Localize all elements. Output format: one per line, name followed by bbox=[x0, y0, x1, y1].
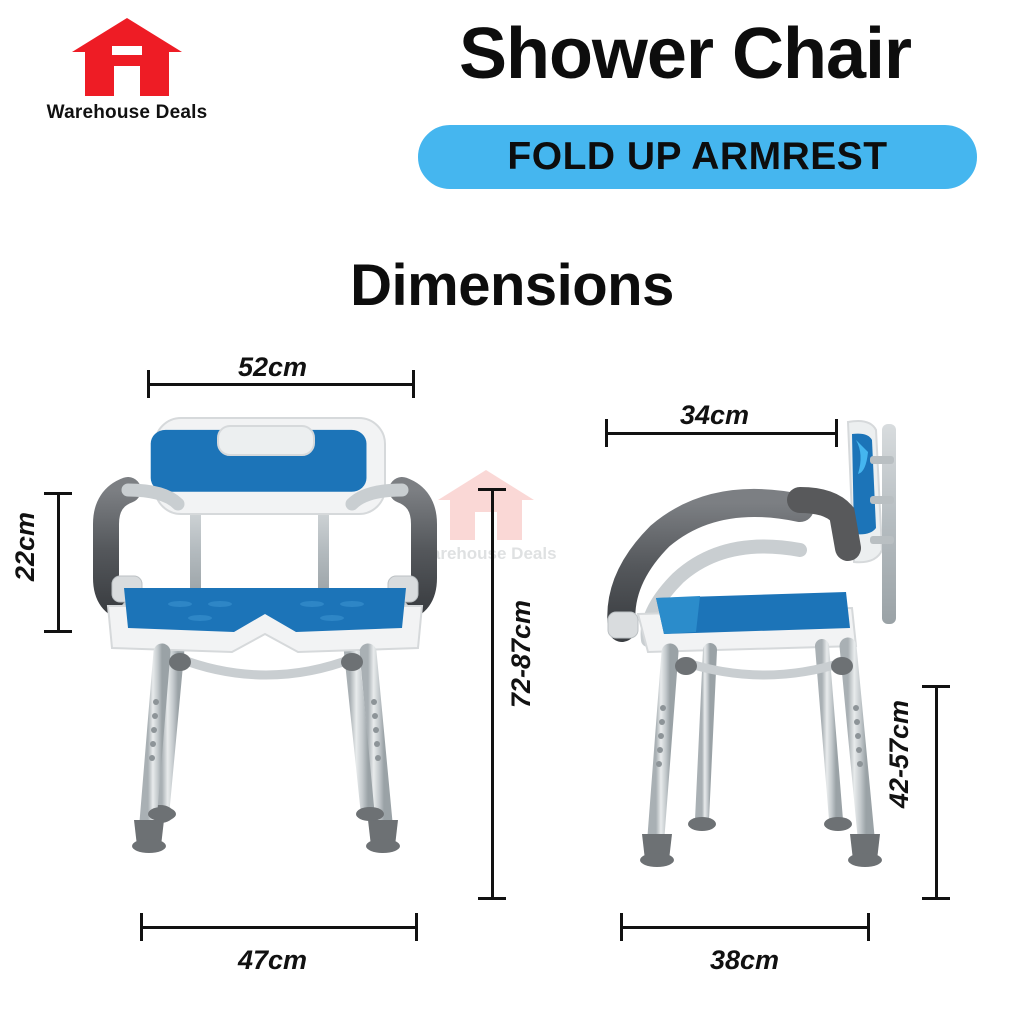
brand-name: Warehouse Deals bbox=[22, 102, 232, 124]
dim-line-seat-depth bbox=[605, 432, 838, 435]
dim-label-seat-depth: 34cm bbox=[680, 400, 749, 431]
feature-badge: FOLD UP ARMREST bbox=[415, 122, 980, 192]
feature-badge-label: FOLD UP ARMREST bbox=[507, 135, 887, 179]
dim-tick bbox=[478, 897, 506, 900]
dim-tick bbox=[415, 913, 418, 941]
dim-label-armrest-height: 22cm bbox=[10, 512, 41, 581]
dim-line-leg-span-depth bbox=[620, 926, 870, 929]
dim-tick bbox=[412, 370, 415, 398]
side-view-illustration bbox=[560, 400, 960, 900]
dim-label-leg-span-depth: 38cm bbox=[710, 945, 779, 976]
dim-line-seat-height bbox=[935, 685, 938, 900]
dim-tick bbox=[605, 419, 608, 447]
page-title: Shower Chair bbox=[360, 18, 1010, 90]
brand-logo: Warehouse Deals bbox=[22, 18, 232, 124]
dim-tick bbox=[478, 488, 506, 491]
dim-tick bbox=[922, 685, 950, 688]
dim-tick bbox=[44, 492, 72, 495]
dim-line-leg-span-width bbox=[140, 926, 418, 929]
dim-tick bbox=[140, 913, 143, 941]
front-view-illustration bbox=[50, 390, 480, 910]
dim-label-total-height: 72-87cm bbox=[506, 600, 537, 708]
dim-tick bbox=[922, 897, 950, 900]
dim-tick bbox=[44, 630, 72, 633]
dim-tick bbox=[620, 913, 623, 941]
dim-tick bbox=[867, 913, 870, 941]
house-icon bbox=[72, 18, 182, 96]
dim-line-armrest-height bbox=[57, 492, 60, 632]
dim-label-seat-width: 52cm bbox=[238, 352, 307, 383]
dim-line-seat-width bbox=[147, 383, 415, 386]
dim-label-leg-span-width: 47cm bbox=[238, 945, 307, 976]
dim-line-total-height bbox=[491, 488, 494, 900]
dim-tick bbox=[147, 370, 150, 398]
dim-label-seat-height: 42-57cm bbox=[884, 700, 915, 808]
section-title: Dimensions bbox=[0, 252, 1024, 319]
dim-tick bbox=[835, 419, 838, 447]
